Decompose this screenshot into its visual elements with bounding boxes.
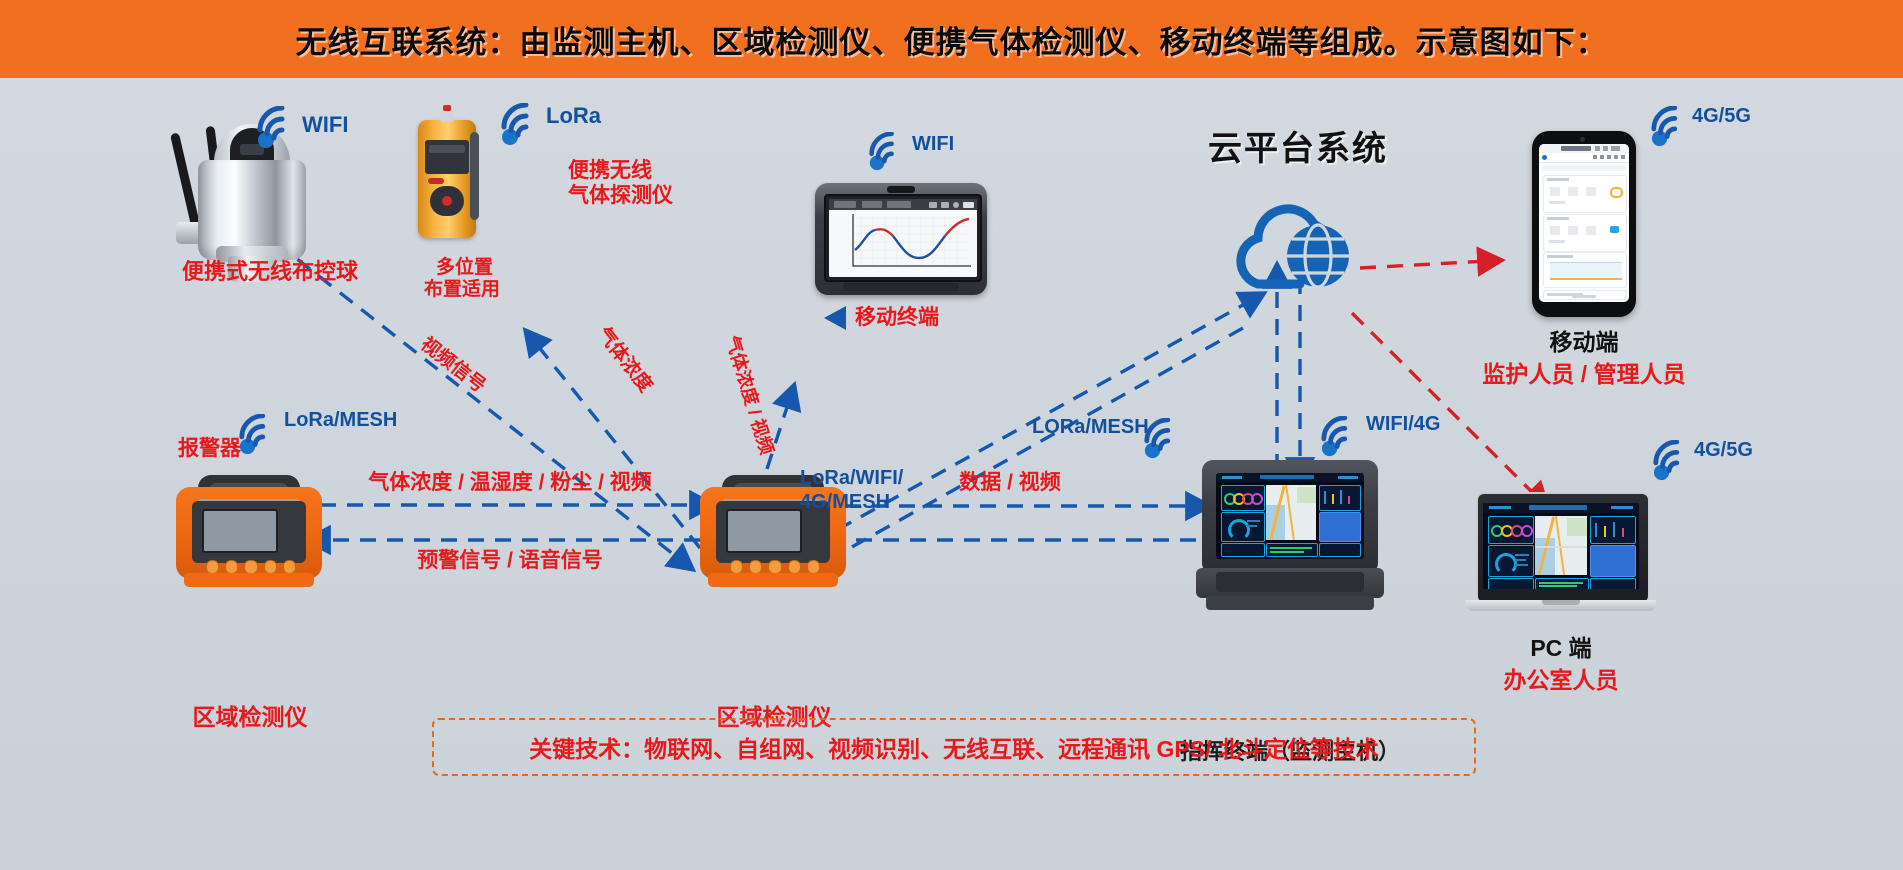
cellular-signal-icon <box>1650 106 1692 148</box>
mobile-signal-label: 4G/5G <box>1692 104 1751 129</box>
detector-knob[interactable] <box>225 560 238 574</box>
command-right-signal-label: WIFI/4G <box>1366 412 1440 437</box>
tablet-screen <box>829 199 977 277</box>
gas-detector-body <box>418 120 476 238</box>
camera-ball-label: 便携式无线布控球 <box>160 258 380 286</box>
link-label-lora-wifi-line1: LoRa/WIFI/ <box>800 466 903 491</box>
gas-detector-screen <box>425 140 469 174</box>
area-detector-left-label: 区域检测仪 <box>160 703 340 732</box>
laptop-lid <box>1476 492 1650 604</box>
sensor-cap-icon <box>440 110 454 122</box>
header-banner: 无线互联系统：由监测主机、区域检测仪、便携气体检测仪、移动终端等组成。示意图如下… <box>0 0 1903 78</box>
tablet-bezel <box>824 194 982 282</box>
pc-client-label: PC 端 <box>1456 634 1666 663</box>
key-technology-text: 关键技术：物联网、自组网、视频识别、无线互联、远程通讯 GPS/ 北斗定位等技术 <box>529 730 1379 764</box>
phone-screen <box>1539 144 1629 302</box>
alarm-signal-label: LoRa/MESH <box>284 408 397 433</box>
pc-client-sublabel: 办公室人员 <box>1436 666 1686 695</box>
command-terminal-device[interactable] <box>1196 460 1384 612</box>
detector-knob[interactable] <box>788 560 801 574</box>
detector-knob[interactable] <box>244 560 257 574</box>
tablet-statusbar <box>829 199 977 210</box>
lora-mesh-signal-icon <box>238 414 280 456</box>
portable-gas-detector-device[interactable] <box>418 120 498 250</box>
phone-stat-card[interactable] <box>1543 175 1627 213</box>
phone-stat-card[interactable] <box>1543 214 1627 252</box>
laptop-trackpad-notch <box>1542 600 1580 605</box>
pc-laptop-device[interactable] <box>1466 492 1656 628</box>
area-detector-left-device[interactable] <box>176 473 322 585</box>
camera-body <box>198 160 306 260</box>
mobile-terminal-label: 移动终端 <box>855 305 939 331</box>
mobile-terminal-pointer-icon <box>822 306 848 330</box>
phone-statusbar <box>1539 144 1629 153</box>
detector-knob[interactable] <box>807 560 820 574</box>
page-title: 无线互联系统：由监测主机、区域检测仪、便携气体检测仪、移动终端等组成。示意图如下… <box>296 17 1608 62</box>
link-label-video-signal: 视频信号 <box>415 333 490 399</box>
command-left-signal-label: LORa/MESH <box>1032 415 1149 440</box>
pc-signal-label: 4G/5G <box>1694 438 1753 463</box>
detector-screen <box>726 509 802 553</box>
phone-navbar[interactable] <box>1539 153 1629 163</box>
phone-camera-icon <box>1580 137 1585 142</box>
cloud-platform-icon[interactable] <box>1222 180 1382 305</box>
gas-detector-label-line1: 便携无线 <box>568 158 652 184</box>
link-label-gas-concentration: 气体浓度 <box>591 323 657 398</box>
command-laptop-lid <box>1202 460 1378 574</box>
detector-knob[interactable] <box>749 560 762 574</box>
link-label-detector-downlink: 预警信号 / 语音信号 <box>360 548 660 574</box>
mobile-phone-device[interactable] <box>1532 131 1636 317</box>
gas-detector-label-line2: 气体探测仪 <box>568 183 673 209</box>
tablet-trend-chart <box>829 210 977 277</box>
detector-knob[interactable] <box>264 560 277 574</box>
command-dashboard-screen <box>1216 473 1364 559</box>
lora-signal-icon <box>500 103 544 147</box>
detector-knob[interactable] <box>730 560 743 574</box>
gas-detector-note-line2: 布置适用 <box>424 278 500 302</box>
wifi-signal-icon <box>868 132 908 172</box>
gas-detector-button <box>428 178 444 184</box>
link-label-detector-uplink: 气体浓度 / 温湿度 / 粉尘 / 视频 <box>330 470 690 496</box>
command-laptop-foot <box>1206 596 1374 610</box>
camera-signal-label: WIFI <box>302 111 348 139</box>
key-technology-box: 关键技术：物联网、自组网、视频识别、无线互联、远程通讯 GPS/ 北斗定位等技术 <box>432 718 1476 776</box>
detector-feet <box>184 573 314 587</box>
mobile-client-label: 移动端 <box>1474 328 1694 357</box>
gas-detector-keypad <box>430 186 464 216</box>
phone-chart <box>1543 252 1627 288</box>
tablet-button-strip <box>843 283 959 291</box>
tablet-signal-label: WIFI <box>912 132 954 157</box>
alarm-device-label: 报警器 <box>178 436 241 462</box>
diagram-canvas: WIFI 便携式无线布控球 LoRa 多位置 布置适用 便携无线 气体探测仪 <box>0 78 1903 870</box>
cloud-platform-title: 云平台系统 <box>1208 128 1388 171</box>
wifi-signal-icon <box>256 106 300 150</box>
command-laptop-keyboard[interactable] <box>1216 572 1364 592</box>
wrist-strap <box>470 132 479 220</box>
link-label-gas-video: 气体浓度 / 视频 <box>720 333 777 457</box>
mobile-client-sublabel: 监护人员 / 管理人员 <box>1434 360 1734 389</box>
mobile-terminal-tablet[interactable] <box>815 183 987 295</box>
link-detector-to-gasdetector <box>534 341 700 548</box>
phone-tab-strip[interactable] <box>1543 165 1625 171</box>
gas-detector-note-line1: 多位置 <box>436 256 493 280</box>
link-label-lora-wifi-line2: 4G/MESH <box>800 490 890 515</box>
detector-feet <box>708 573 838 587</box>
pc-dashboard-screen <box>1483 503 1639 589</box>
detector-knob[interactable] <box>283 560 296 574</box>
detector-knob[interactable] <box>206 560 219 574</box>
link-label-data-video: 数据 / 视频 <box>890 470 1130 496</box>
detector-screen <box>202 509 278 553</box>
detector-knob[interactable] <box>768 560 781 574</box>
cellular-signal-icon <box>1652 440 1694 482</box>
wifi-4g-signal-icon <box>1320 416 1362 458</box>
phone-home-indicator <box>1572 295 1596 298</box>
lora-mesh-signal-icon <box>1143 418 1185 460</box>
gas-detector-signal-label: LoRa <box>546 102 601 130</box>
tablet-camera-icon <box>887 186 915 193</box>
